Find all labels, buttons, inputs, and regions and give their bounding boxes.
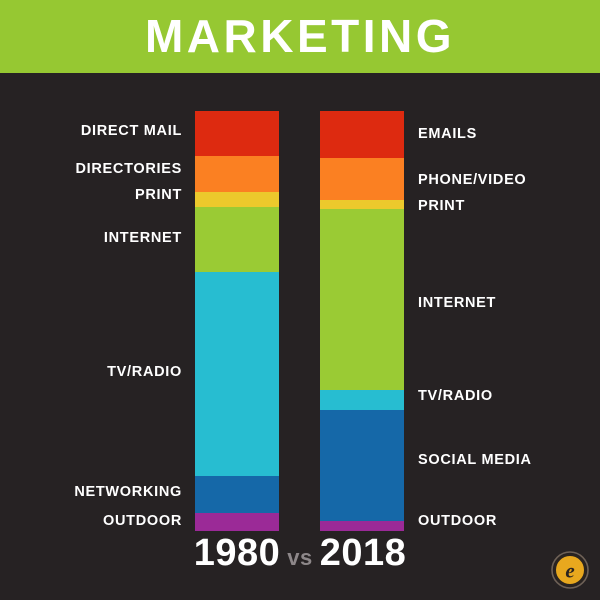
bar-segment-print	[195, 192, 279, 207]
year-right: 2018	[320, 532, 407, 574]
segment-label-left-print: PRINT	[135, 188, 182, 203]
segment-label-right-social-media: SOCIAL MEDIA	[418, 453, 532, 468]
bar-segment-directories	[195, 156, 279, 192]
stacked-bar-2018	[320, 111, 404, 531]
vs-separator: vs	[280, 545, 319, 570]
comparison-caption: 1980vs2018	[0, 534, 600, 572]
segment-label-right-print: PRINT	[418, 199, 465, 214]
segment-label-left-networking: NETWORKING	[74, 485, 182, 500]
stacked-bar-1980	[195, 111, 279, 531]
svg-text:e: e	[565, 559, 574, 583]
bar-segment-tv-radio	[195, 272, 279, 476]
year-left: 1980	[194, 532, 281, 574]
e-logo: e	[551, 551, 589, 589]
segment-label-right-internet: INTERNET	[418, 296, 496, 311]
bar-segment-outdoor	[320, 521, 404, 531]
segment-label-left-outdoor: OUTDOOR	[103, 514, 182, 529]
bar-segment-outdoor	[195, 513, 279, 531]
bar-segment-internet	[195, 207, 279, 272]
bar-segment-internet	[320, 209, 404, 390]
header-band: MARKETING	[0, 0, 600, 73]
segment-label-right-tv-radio: TV/RADIO	[418, 389, 493, 404]
page-title: MARKETING	[145, 13, 455, 59]
marketing-infographic: MARKETING DIRECT MAILDIRECTORIESPRINTINT…	[0, 0, 600, 600]
bar-segment-social-media	[320, 410, 404, 521]
bar-segment-print	[320, 200, 404, 209]
segment-label-right-emails: EMAILS	[418, 127, 477, 142]
bar-segment-networking	[195, 476, 279, 513]
segment-label-left-internet: INTERNET	[104, 231, 182, 246]
bar-segment-phone-video	[320, 158, 404, 200]
segment-label-left-directories: DIRECTORIES	[75, 162, 182, 177]
segment-label-left-direct-mail: DIRECT MAIL	[81, 124, 182, 139]
segment-label-right-phone-video: PHONE/VIDEO	[418, 173, 526, 188]
bar-segment-emails	[320, 111, 404, 158]
segment-label-left-tv-radio: TV/RADIO	[107, 365, 182, 380]
segment-label-right-outdoor: OUTDOOR	[418, 514, 497, 529]
bar-segment-tv-radio	[320, 390, 404, 410]
bar-segment-direct-mail	[195, 111, 279, 156]
